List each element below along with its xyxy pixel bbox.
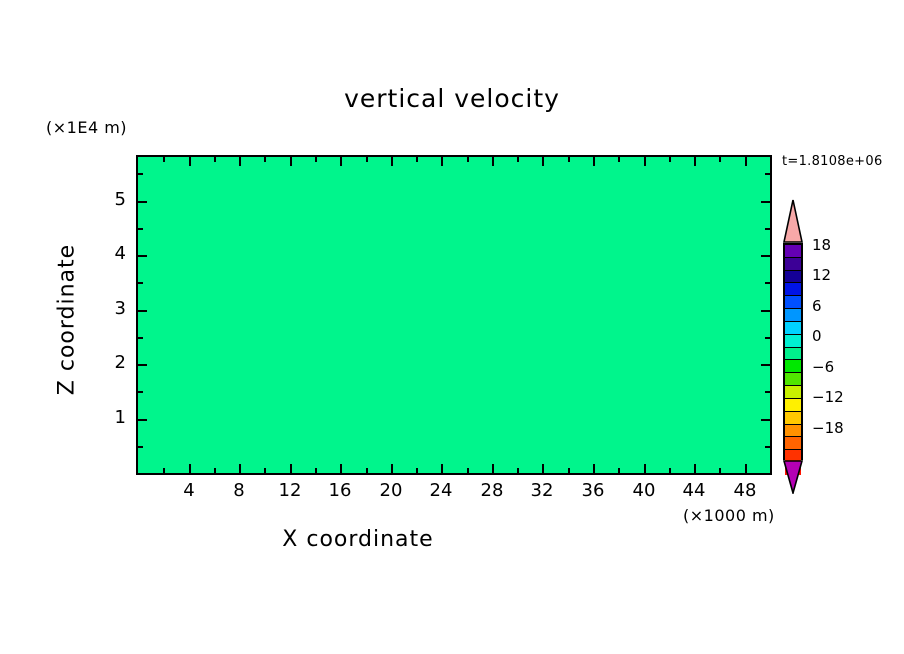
y-axis-tick bbox=[765, 446, 770, 448]
x-axis-tick bbox=[618, 468, 620, 473]
colorbar-band bbox=[785, 335, 801, 348]
colorbar-band bbox=[785, 399, 801, 412]
y-axis-tick bbox=[138, 201, 147, 203]
x-axis-tick bbox=[593, 157, 595, 166]
x-axis-tick bbox=[391, 464, 393, 473]
colorbar-band bbox=[785, 322, 801, 335]
x-axis-tick-label: 24 bbox=[421, 480, 461, 501]
y-axis-tick-label: 4 bbox=[96, 243, 126, 264]
x-axis-tick bbox=[568, 157, 570, 162]
colorbar-band bbox=[785, 271, 801, 284]
x-axis-tick bbox=[517, 157, 519, 162]
y-axis-tick-label: 3 bbox=[96, 298, 126, 319]
y-axis-tick bbox=[761, 310, 770, 312]
y-axis-title: Z coordinate bbox=[55, 230, 80, 410]
colorbar-tick-label: −6 bbox=[812, 358, 834, 376]
x-axis-tick bbox=[315, 157, 317, 162]
colorbar-tick-label: 0 bbox=[812, 327, 822, 345]
x-axis-tick bbox=[189, 464, 191, 473]
x-axis-tick-label: 4 bbox=[169, 480, 209, 501]
x-axis-tick-label: 32 bbox=[522, 480, 562, 501]
y-axis-tick bbox=[761, 255, 770, 257]
colorbar-band bbox=[785, 437, 801, 450]
y-axis-tick bbox=[138, 228, 143, 230]
x-axis-tick bbox=[517, 468, 519, 473]
y-axis-tick bbox=[761, 364, 770, 366]
x-axis-tick bbox=[290, 157, 292, 166]
x-axis-tick bbox=[239, 464, 241, 473]
x-axis-tick bbox=[542, 464, 544, 473]
x-axis-tick-label: 48 bbox=[725, 480, 765, 501]
x-axis-tick-label: 8 bbox=[219, 480, 259, 501]
x-axis-tick bbox=[694, 157, 696, 166]
x-axis-tick bbox=[467, 157, 469, 162]
x-axis-tick bbox=[669, 157, 671, 162]
y-axis-tick bbox=[765, 173, 770, 175]
x-axis-tick bbox=[542, 157, 544, 166]
x-axis-tick-label: 20 bbox=[371, 480, 411, 501]
x-axis-tick bbox=[340, 157, 342, 166]
x-axis-tick bbox=[214, 468, 216, 473]
y-axis-tick bbox=[138, 446, 143, 448]
y-axis-tick-label: 2 bbox=[96, 352, 126, 373]
x-axis-tick bbox=[239, 157, 241, 166]
x-axis-tick bbox=[492, 464, 494, 473]
plot-title: vertical velocity bbox=[0, 84, 904, 113]
x-axis-unit-label: (×1000 m) bbox=[683, 506, 775, 525]
x-axis-tick bbox=[441, 464, 443, 473]
y-axis-tick-label: 5 bbox=[96, 189, 126, 210]
y-axis-tick bbox=[138, 337, 143, 339]
x-axis-tick bbox=[163, 157, 165, 162]
colorbar-band bbox=[785, 258, 801, 271]
x-axis-tick bbox=[644, 464, 646, 473]
x-axis-tick bbox=[669, 468, 671, 473]
x-axis-tick bbox=[441, 157, 443, 166]
contour-plot-area bbox=[136, 155, 772, 475]
colorbar-band bbox=[785, 373, 801, 386]
colorbar-tick-label: 18 bbox=[812, 236, 831, 254]
x-axis-tick bbox=[467, 468, 469, 473]
x-axis-tick bbox=[745, 464, 747, 473]
y-axis-tick bbox=[138, 173, 143, 175]
x-axis-tick bbox=[416, 157, 418, 162]
x-axis-tick bbox=[264, 468, 266, 473]
x-axis-tick bbox=[264, 157, 266, 162]
x-axis-tick-label: 16 bbox=[320, 480, 360, 501]
y-axis-tick-label: 1 bbox=[96, 407, 126, 428]
colorbar-tick-label: 12 bbox=[812, 266, 831, 284]
x-axis-tick-label: 44 bbox=[674, 480, 714, 501]
x-axis-tick bbox=[568, 468, 570, 473]
x-axis-tick-label: 36 bbox=[573, 480, 613, 501]
x-axis-tick-label: 28 bbox=[472, 480, 512, 501]
y-axis-tick bbox=[138, 255, 147, 257]
x-axis-tick-label: 40 bbox=[624, 480, 664, 501]
y-axis-tick bbox=[761, 201, 770, 203]
y-axis-unit-label: (×1E4 m) bbox=[46, 118, 127, 137]
colorbar-band bbox=[785, 425, 801, 438]
colorbar-under-arrow bbox=[783, 460, 803, 494]
x-axis-tick-label: 12 bbox=[270, 480, 310, 501]
x-axis-tick bbox=[315, 468, 317, 473]
x-axis-tick bbox=[694, 464, 696, 473]
colorbar-band bbox=[785, 412, 801, 425]
y-axis-tick bbox=[138, 282, 143, 284]
timestamp-label: t=1.8108e+06 bbox=[782, 154, 883, 169]
y-axis-tick bbox=[765, 391, 770, 393]
colorbar-under-triangle bbox=[783, 460, 803, 494]
y-axis-tick bbox=[765, 337, 770, 339]
x-axis-tick bbox=[366, 157, 368, 162]
colorbar-tick-label: −12 bbox=[812, 388, 844, 406]
x-axis-tick bbox=[189, 157, 191, 166]
x-axis-tick bbox=[416, 468, 418, 473]
y-axis-tick bbox=[765, 282, 770, 284]
x-axis-title: X coordinate bbox=[0, 527, 716, 552]
x-axis-tick bbox=[214, 157, 216, 162]
y-axis-tick bbox=[138, 310, 147, 312]
colorbar-band bbox=[785, 360, 801, 373]
vertical-velocity-field bbox=[138, 157, 770, 473]
colorbar-band bbox=[785, 309, 801, 322]
colorbar-band bbox=[785, 348, 801, 361]
y-axis-tick bbox=[138, 364, 147, 366]
colorbar-band bbox=[785, 283, 801, 296]
x-axis-tick bbox=[391, 157, 393, 166]
x-axis-tick bbox=[745, 157, 747, 166]
x-axis-tick bbox=[719, 157, 721, 162]
y-axis-tick bbox=[765, 228, 770, 230]
x-axis-tick bbox=[492, 157, 494, 166]
colorbar-tick-label: −18 bbox=[812, 419, 844, 437]
colorbar-over-triangle bbox=[783, 199, 803, 243]
y-axis-tick bbox=[138, 391, 143, 393]
colorbar-tick-label: 6 bbox=[812, 297, 822, 315]
colorbar-band bbox=[785, 386, 801, 399]
y-axis-tick bbox=[761, 419, 770, 421]
colorbar-band bbox=[785, 296, 801, 309]
colorbar-over-arrow bbox=[783, 199, 803, 243]
x-axis-tick bbox=[593, 464, 595, 473]
colorbar bbox=[783, 243, 803, 460]
colorbar-band bbox=[785, 245, 801, 258]
x-axis-tick bbox=[644, 157, 646, 166]
x-axis-tick bbox=[163, 468, 165, 473]
x-axis-tick bbox=[366, 468, 368, 473]
x-axis-tick bbox=[618, 157, 620, 162]
x-axis-tick bbox=[340, 464, 342, 473]
y-axis-tick bbox=[138, 419, 147, 421]
x-axis-tick bbox=[719, 468, 721, 473]
x-axis-tick bbox=[290, 464, 292, 473]
